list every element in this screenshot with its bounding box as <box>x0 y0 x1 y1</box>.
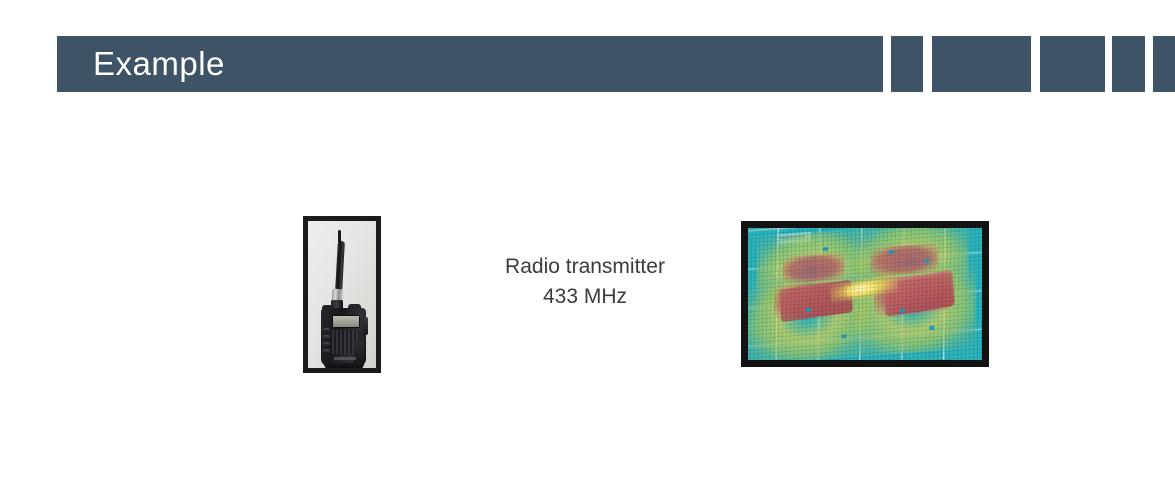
radio-side-button <box>323 335 330 339</box>
radio-brand-label <box>334 357 356 360</box>
radio-transmitter-photo <box>303 216 381 373</box>
page-title: Example <box>93 36 225 92</box>
antenna-rod-icon <box>335 241 345 293</box>
radio-side-buttons <box>323 328 330 354</box>
radio-ptt-button <box>364 317 368 335</box>
signal-heatmap-photo <box>741 221 989 367</box>
heat-core-top-left <box>783 253 845 285</box>
caption-line-1: Radio transmitter <box>430 252 740 282</box>
slide-header: Example <box>57 36 1132 92</box>
heatmap-overlay <box>748 228 982 360</box>
header-decor-block-4 <box>1112 36 1145 92</box>
heat-cold-cell <box>924 259 929 263</box>
heat-cold-cell <box>900 309 905 313</box>
figure-caption: Radio transmitter 433 MHz <box>430 252 740 312</box>
header-decor-block-3 <box>1040 36 1105 92</box>
caption-line-2: 433 MHz <box>430 282 740 312</box>
header-decor-block-1 <box>891 36 923 92</box>
radio-side-button <box>323 342 330 346</box>
radio-lcd-screen <box>332 315 360 328</box>
heat-cold-cell <box>929 326 934 330</box>
header-decor-block-2 <box>932 36 1031 92</box>
header-decor-block-5 <box>1153 36 1175 92</box>
slide-canvas: Example <box>0 0 1175 501</box>
heat-cold-cell <box>842 334 847 338</box>
header-title-bar: Example <box>57 36 883 92</box>
heat-cold-cell <box>889 250 894 254</box>
radio-side-button <box>323 328 330 332</box>
heatmap-photo-content <box>748 228 982 360</box>
heat-cold-cell <box>823 247 828 251</box>
radio-bottom-bezel <box>324 363 364 368</box>
heat-cold-cell <box>806 308 811 312</box>
cutting-mat <box>748 228 982 360</box>
radio-photo-content <box>308 221 376 368</box>
radio-side-button <box>323 349 330 353</box>
